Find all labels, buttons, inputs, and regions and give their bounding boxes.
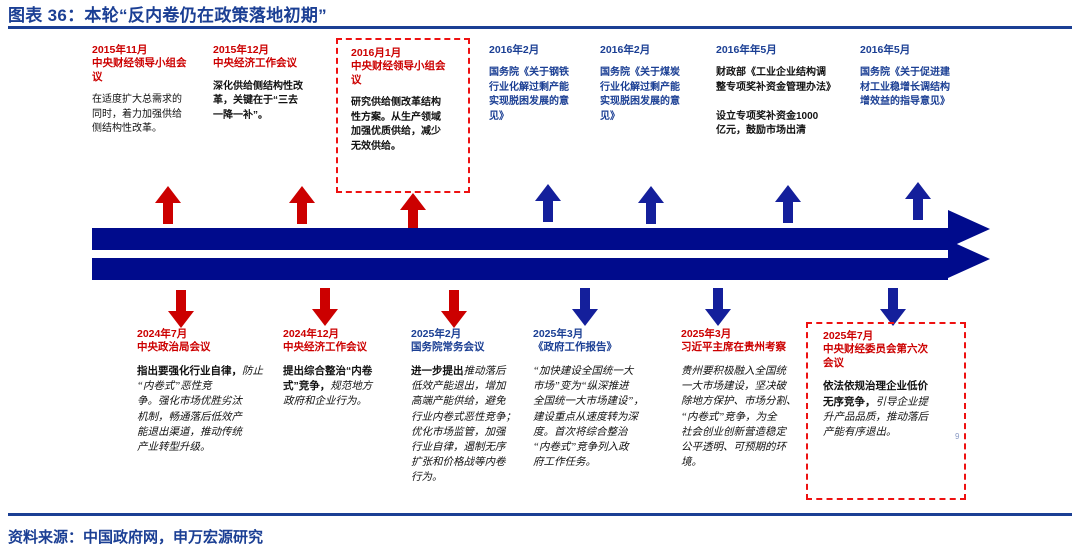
event-date: 2025年3月 《政府工作报告》 xyxy=(533,328,671,355)
event-body: 财政部《工业企业结构调 整专项奖补资金管理办法》 设立专项奖补资金1000 亿元… xyxy=(716,66,856,139)
page-title: 图表 36：本轮“反内卷仍在政策落地初期” xyxy=(8,1,327,26)
event-body: 深化供给侧结构性改 革，关键在于“三去 一降一补”。 xyxy=(213,80,331,124)
down-arrow-red-1 xyxy=(168,290,194,328)
event-date: 2016年2月 xyxy=(600,44,706,57)
event-date: 2016年年5月 xyxy=(716,44,856,57)
event-block-bottom-6: 2025年7月 中央财经委员会第六次 会议 依法依规治理企业低价 无序竞争，引导… xyxy=(823,330,959,440)
timeline-arrowhead-lower xyxy=(948,240,990,278)
timeline-arrow-bars xyxy=(92,224,1012,284)
event-body: 依法依规治理企业低价 无序竞争，引导企业提 升产品品质，推动落后 产能有序退出。 xyxy=(823,379,959,440)
event-date: 2024年12月 中央经济工作会议 xyxy=(283,328,409,355)
footer-divider xyxy=(8,513,1072,516)
event-block-bottom-4: 2025年3月 《政府工作报告》 “加快建设全国统一大 市场”变为“纵深推进 全… xyxy=(533,328,671,470)
event-body: 指出要强化行业自律，防止“内卷式”恶性竞 争。强化市场优胜劣汰 机制，畅通落后低… xyxy=(137,364,277,455)
down-arrow-blue-3 xyxy=(880,288,906,326)
event-body-lead: 进一步提出 xyxy=(411,365,464,377)
event-block-bottom-1: 2024年7月 中央政治局会议 指出要强化行业自律，防止“内卷式”恶性竞 争。强… xyxy=(137,328,277,455)
title-divider xyxy=(8,26,1072,29)
event-body: 国务院《关于促进建 材工业稳增长调结构 增效益的指导意见》 xyxy=(860,66,976,110)
event-date: 2016年5月 xyxy=(860,44,976,57)
up-arrow-blue-1 xyxy=(535,184,561,222)
event-block-bottom-3: 2025年2月 国务院常务会议 进一步提出推动落后 低效产能退出，增加 高端产能… xyxy=(411,328,529,486)
down-arrow-red-3 xyxy=(441,290,467,328)
event-body: 国务院《关于钢铁 行业化解过剩产能 实现脱困发展的意 见》 xyxy=(489,66,595,124)
event-body-lead: 指出要强化行业自律， xyxy=(137,365,242,377)
event-body: “加快建设全国统一大 市场”变为“纵深推进 全国统一大市场建设”， 建设重点从速… xyxy=(533,364,671,471)
down-arrow-red-2 xyxy=(312,288,338,326)
page-number: 9 xyxy=(955,432,959,441)
event-date: 2025年7月 中央财经委员会第六次 会议 xyxy=(823,330,959,370)
timeline-bar-upper xyxy=(92,228,948,250)
event-block-bottom-2: 2024年12月 中央经济工作会议 提出综合整治“内卷 式”竞争，规范地方 政府… xyxy=(283,328,409,410)
event-date: 2016月1月 中央财经领导小组会 议 xyxy=(351,47,467,87)
event-body: 研究供给侧改革结构 性方案。从生产领域 加强优质供给，减少 无效供给。 xyxy=(351,96,467,154)
timeline-bar-lower xyxy=(92,258,948,280)
event-body-rest: “加快建设全国统一大 市场”变为“纵深推进 全国统一大市场建设”， 建设重点从速… xyxy=(533,366,644,468)
chart-header: 图表 36：本轮“反内卷仍在政策落地初期” xyxy=(0,0,1080,30)
event-block-bottom-5: 2025年3月 习近平主席在贵州考察 贵州要积极融入全国统 一大市场建设，坚决破… xyxy=(681,328,817,470)
event-body-rest: 防止“内卷式”恶性竞 争。强化市场优胜劣汰 机制，畅通落后低效产 能退出渠道，推… xyxy=(137,366,263,453)
up-arrow-red-1 xyxy=(155,186,181,224)
event-body: 在适度扩大总需求的 同时，着力加强供给 侧结构性改革。 xyxy=(92,93,212,137)
event-body: 贵州要积极融入全国统 一大市场建设，坚决破 除地方保护、市场分割、 “内卷式”竞… xyxy=(681,364,817,471)
event-block-top-2: 2015年12月 中央经济工作会议 深化供给侧结构性改 革，关键在于“三去 一降… xyxy=(213,44,331,123)
event-block-top-5: 2016年2月 国务院《关于煤炭 行业化解过剩产能 实现脱困发展的意 见》 xyxy=(600,44,706,124)
event-date: 2025年3月 习近平主席在贵州考察 xyxy=(681,328,817,355)
event-body: 国务院《关于煤炭 行业化解过剩产能 实现脱困发展的意 见》 xyxy=(600,66,706,124)
event-body: 进一步提出推动落后 低效产能退出，增加 高端产能供给，避免 行业内卷式恶性竞争；… xyxy=(411,364,529,486)
up-arrow-blue-4 xyxy=(905,182,931,220)
event-block-top-1: 2015年11月 中央财经领导小组会 议 在适度扩大总需求的 同时，着力加强供给… xyxy=(92,44,212,137)
up-arrow-blue-3 xyxy=(775,185,801,223)
event-date: 2025年2月 国务院常务会议 xyxy=(411,328,529,355)
event-block-top-6: 2016年年5月 财政部《工业企业结构调 整专项奖补资金管理办法》 设立专项奖补… xyxy=(716,44,856,139)
event-date: 2024年7月 中央政治局会议 xyxy=(137,328,277,355)
event-body-rest: 贵州要积极融入全国统 一大市场建设，坚决破 除地方保护、市场分割、 “内卷式”竞… xyxy=(681,366,797,468)
source-line: 资料来源：中国政府网，申万宏源研究 xyxy=(8,526,263,547)
down-arrow-blue-1 xyxy=(572,288,598,326)
up-arrow-blue-2 xyxy=(638,186,664,224)
event-block-top-7: 2016年5月 国务院《关于促进建 材工业稳增长调结构 增效益的指导意见》 xyxy=(860,44,976,110)
event-block-top-3: 2016月1月 中央财经领导小组会 议 研究供给侧改革结构 性方案。从生产领域 … xyxy=(351,47,467,154)
down-arrow-blue-2 xyxy=(705,288,731,326)
event-block-top-4: 2016年2月 国务院《关于钢铁 行业化解过剩产能 实现脱困发展的意 见》 xyxy=(489,44,595,124)
event-date: 2016年2月 xyxy=(489,44,595,57)
event-body-rest: 推动落后 低效产能退出，增加 高端产能供给，避免 行业内卷式恶性竞争； 优化市场… xyxy=(411,366,516,484)
event-date: 2015年12月 中央经济工作会议 xyxy=(213,44,331,71)
event-body: 提出综合整治“内卷 式”竞争，规范地方 政府和企业行为。 xyxy=(283,364,409,410)
event-date: 2015年11月 中央财经领导小组会 议 xyxy=(92,44,212,84)
up-arrow-red-2 xyxy=(289,186,315,224)
